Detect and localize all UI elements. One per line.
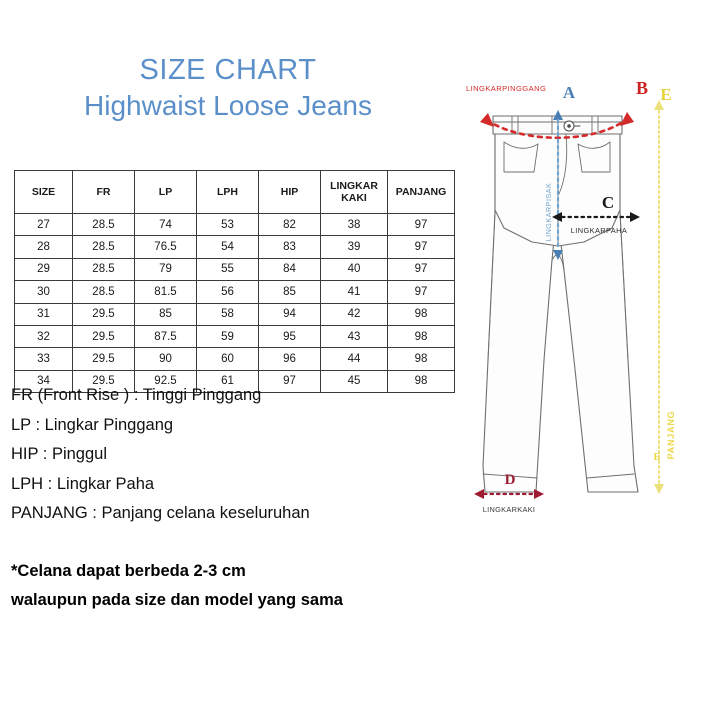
legend-item-hip: HIP : Pinggul [11, 440, 461, 470]
col-header-lingkar-kaki-line1: LINGKAR [330, 180, 378, 192]
table-header-row: SIZE FR LP LPH HIP LINGKAR KAKI PANJANG [15, 171, 455, 214]
table-row: 33 29.5 90 60 96 44 98 [15, 348, 455, 370]
disclaimer-note: *Celana dapat berbeda 2-3 cm walaupun pa… [11, 557, 471, 615]
cell-hip: 96 [259, 348, 321, 370]
cell-hip: 84 [259, 258, 321, 280]
cell-panjang: 98 [388, 325, 455, 347]
cell-fr: 28.5 [73, 214, 135, 236]
table-row: 29 28.5 79 55 84 40 97 [15, 258, 455, 280]
cell-kaki: 42 [321, 303, 388, 325]
cell-size: 31 [15, 303, 73, 325]
col-header-lph: LPH [197, 171, 259, 214]
marker-b-label: B [636, 78, 648, 98]
legend-item-panjang: PANJANG : Panjang celana keseluruhan [11, 499, 461, 529]
cell-fr: 29.5 [73, 325, 135, 347]
col-header-lingkar-kaki: LINGKAR KAKI [321, 171, 388, 214]
marker-c-label: C [602, 193, 614, 212]
marker-e-label-top: E [660, 85, 671, 104]
cell-lp: 90 [135, 348, 197, 370]
cell-hip: 83 [259, 236, 321, 258]
col-header-size: SIZE [15, 171, 73, 214]
cell-fr: 28.5 [73, 281, 135, 303]
cell-lp: 87.5 [135, 325, 197, 347]
table-row: 30 28.5 81.5 56 85 41 97 [15, 281, 455, 303]
jeans-illustration [483, 116, 638, 492]
cell-lp: 81.5 [135, 281, 197, 303]
cell-size: 32 [15, 325, 73, 347]
cell-panjang: 97 [388, 214, 455, 236]
label-lingkarpisak: LINGKARPISAK [544, 183, 553, 242]
cell-panjang: 98 [388, 348, 455, 370]
cell-kaki: 39 [321, 236, 388, 258]
col-header-lingkar-kaki-line2: KAKI [341, 192, 367, 204]
cell-panjang: 97 [388, 281, 455, 303]
cell-panjang: 97 [388, 236, 455, 258]
cell-lph: 54 [197, 236, 259, 258]
marker-d-label: D [505, 472, 516, 488]
marker-b-annotation: B [636, 78, 648, 98]
cell-lp: 79 [135, 258, 197, 280]
cell-lp: 85 [135, 303, 197, 325]
cell-size: 30 [15, 281, 73, 303]
table-row: 32 29.5 87.5 59 95 43 98 [15, 325, 455, 347]
leg-arrow-left-icon [474, 489, 484, 499]
cell-lph: 60 [197, 348, 259, 370]
label-lingkarpaha: LINGKARPAHA [571, 226, 627, 235]
table-row: 31 29.5 85 58 94 42 98 [15, 303, 455, 325]
rise-arrow-down-icon [553, 250, 563, 260]
cell-hip: 94 [259, 303, 321, 325]
cell-lph: 58 [197, 303, 259, 325]
cell-fr: 28.5 [73, 236, 135, 258]
marker-a-label: A [563, 83, 576, 102]
col-header-fr: FR [73, 171, 135, 214]
cell-hip: 95 [259, 325, 321, 347]
length-arrow-down-icon [654, 484, 664, 494]
cell-hip: 82 [259, 214, 321, 236]
jeans-measurement-diagram: LINGKARPINGGANG A LINGKARPISAK B C LINGK [452, 60, 726, 530]
legend-item-fr: FR (Front Rise ) : Tinggi Pinggang [11, 381, 461, 411]
thigh-arrow-right-icon [630, 212, 640, 222]
cell-kaki: 38 [321, 214, 388, 236]
waist-arrow-left-icon [480, 113, 494, 127]
cell-lph: 53 [197, 214, 259, 236]
col-header-hip: HIP [259, 171, 321, 214]
legend-item-lph: LPH : Lingkar Paha [11, 470, 461, 500]
cell-size: 28 [15, 236, 73, 258]
cell-hip: 85 [259, 281, 321, 303]
cell-lph: 59 [197, 325, 259, 347]
label-lingkarpinggang: LINGKARPINGGANG [466, 84, 546, 93]
size-table-container: SIZE FR LP LPH HIP LINGKAR KAKI PANJANG [14, 170, 454, 393]
cell-lph: 55 [197, 258, 259, 280]
legend-item-lp: LP : Lingkar Pinggang [11, 411, 461, 441]
cell-fr: 29.5 [73, 303, 135, 325]
cell-fr: 29.5 [73, 348, 135, 370]
page-subtitle: Highwaist Loose Jeans [0, 88, 456, 124]
cell-lp: 76.5 [135, 236, 197, 258]
table-row: 27 28.5 74 53 82 38 97 [15, 214, 455, 236]
label-lingkarkaki: LINGKARKAKI [483, 505, 536, 514]
marker-e-label-bottom: E [653, 451, 660, 463]
cell-lp: 74 [135, 214, 197, 236]
col-header-lp: LP [135, 171, 197, 214]
table-row: 28 28.5 76.5 54 83 39 97 [15, 236, 455, 258]
cell-size: 29 [15, 258, 73, 280]
disclaimer-line-2: walaupun pada size dan model yang sama [11, 586, 471, 615]
rise-arrow-up-icon [553, 110, 563, 120]
cell-fr: 28.5 [73, 258, 135, 280]
leg-arrow-right-icon [534, 489, 544, 499]
cell-panjang: 98 [388, 303, 455, 325]
chart-title-block: SIZE CHART Highwaist Loose Jeans [0, 52, 456, 124]
col-header-panjang: PANJANG [388, 171, 455, 214]
length-measure-annotation: E PANJANG E [653, 85, 676, 494]
cell-kaki: 43 [321, 325, 388, 347]
disclaimer-line-1: *Celana dapat berbeda 2-3 cm [11, 557, 471, 586]
cell-panjang: 97 [388, 258, 455, 280]
cell-size: 33 [15, 348, 73, 370]
size-table: SIZE FR LP LPH HIP LINGKAR KAKI PANJANG [14, 170, 455, 393]
size-chart-page: SIZE CHART Highwaist Loose Jeans SIZE FR… [0, 0, 726, 726]
cell-kaki: 41 [321, 281, 388, 303]
cell-kaki: 44 [321, 348, 388, 370]
cell-kaki: 40 [321, 258, 388, 280]
cell-lph: 56 [197, 281, 259, 303]
page-title: SIZE CHART [0, 52, 456, 88]
legend-block: FR (Front Rise ) : Tinggi Pinggang LP : … [11, 381, 461, 529]
cell-size: 27 [15, 214, 73, 236]
left-column: SIZE CHART Highwaist Loose Jeans SIZE FR… [0, 0, 470, 726]
label-panjang: PANJANG [666, 411, 676, 460]
